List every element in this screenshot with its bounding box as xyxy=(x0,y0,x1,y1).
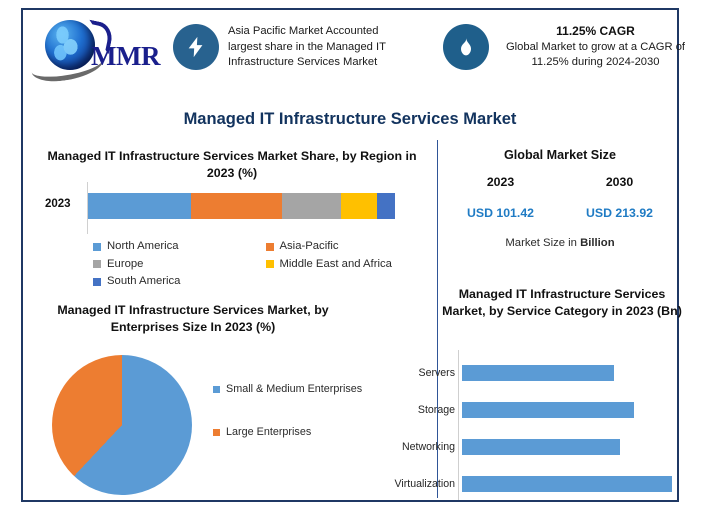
service-bar-row: Networking xyxy=(358,428,688,465)
page-title: Managed IT Infrastructure Services Marke… xyxy=(23,110,677,129)
enterprise-chart-title-block: Managed IT Infrastructure Services Marke… xyxy=(23,302,363,336)
pie-legend-swatch-icon xyxy=(213,429,220,436)
service-chart-title-block: Managed IT Infrastructure Services Marke… xyxy=(438,286,686,320)
lightning-bolt-icon xyxy=(173,24,219,70)
market-size-footnote: Market Size in Billion xyxy=(441,237,679,249)
legend-swatch-icon xyxy=(93,243,101,251)
legend-label: Middle East and Africa xyxy=(280,256,392,274)
highlight-asia-pacific: Asia Pacific Market Accounted largest sh… xyxy=(173,24,413,71)
pie-legend-label: Large Enterprises xyxy=(226,425,311,440)
service-category-bar-chart: ServersStorageNetworkingVirtualization xyxy=(358,350,688,500)
region-chart-title-block: Managed IT Infrastructure Services Marke… xyxy=(27,148,437,182)
region-segment-south-america xyxy=(377,193,395,219)
legend-label: North America xyxy=(107,238,179,256)
service-bar-row: Virtualization xyxy=(358,465,688,502)
service-bar-row: Storage xyxy=(358,391,688,428)
service-bar-label: Virtualization xyxy=(358,478,459,490)
region-segment-north-america xyxy=(88,193,191,219)
pie-legend-item: Large Enterprises xyxy=(213,425,363,440)
enterprise-pie-chart xyxy=(52,355,192,495)
region-segment-middle-east-and-africa xyxy=(341,193,376,219)
service-chart-title: Managed IT Infrastructure Services Marke… xyxy=(438,286,686,320)
legend-item: Middle East and Africa xyxy=(266,256,439,274)
service-bar-servers xyxy=(462,365,614,381)
header: MMR Asia Pacific Market Accounted larges… xyxy=(23,10,677,98)
region-segment-asia-pacific xyxy=(191,193,282,219)
service-bar-storage xyxy=(462,402,634,418)
service-bar-virtualization xyxy=(462,476,672,492)
region-stacked-bar-chart: 2023 xyxy=(23,188,435,230)
market-size-footnote-unit: Billion xyxy=(580,237,615,249)
legend-item: Asia-Pacific xyxy=(266,238,439,256)
global-market-size-panel: Global Market Size 2023 USD 101.42 2030 … xyxy=(441,148,679,249)
pie-legend-swatch-icon xyxy=(213,386,220,393)
legend-item: South America xyxy=(93,273,266,291)
region-category-label: 2023 xyxy=(45,198,71,210)
legend-swatch-icon xyxy=(93,278,101,286)
highlight-cagr: 11.25% CAGR Global Market to grow at a C… xyxy=(443,24,693,71)
global-market-size-row: 2023 USD 101.42 2030 USD 213.92 xyxy=(441,175,679,220)
market-size-footnote-prefix: Market Size in xyxy=(505,237,580,249)
flame-icon xyxy=(443,24,489,70)
service-bar-row: Servers xyxy=(358,354,688,391)
legend-swatch-icon xyxy=(266,243,274,251)
cagr-headline: 11.25% CAGR xyxy=(498,24,693,40)
highlight-asia-pacific-text: Asia Pacific Market Accounted largest sh… xyxy=(228,24,413,71)
global-market-size-title: Global Market Size xyxy=(441,148,679,162)
cagr-description: Global Market to grow at a CAGR of 11.25… xyxy=(506,41,685,69)
market-size-year-2023: 2023 xyxy=(441,175,560,189)
highlight-cagr-text: 11.25% CAGR Global Market to grow at a C… xyxy=(498,24,693,71)
logo-text: MMR xyxy=(91,41,160,72)
market-size-year-2030: 2030 xyxy=(560,175,679,189)
service-bar-networking xyxy=(462,439,620,455)
enterprise-legend: Small & Medium EnterprisesLarge Enterpri… xyxy=(213,382,363,468)
mmr-logo: MMR xyxy=(29,16,161,78)
region-segment-europe xyxy=(282,193,341,219)
region-stack xyxy=(88,193,395,219)
legend-swatch-icon xyxy=(93,260,101,268)
legend-label: South America xyxy=(107,273,180,291)
service-bar-label: Servers xyxy=(358,367,459,379)
legend-label: Asia-Pacific xyxy=(280,238,339,256)
service-bar-label: Networking xyxy=(358,441,459,453)
legend-label: Europe xyxy=(107,256,143,274)
pie-legend-item: Small & Medium Enterprises xyxy=(213,382,363,397)
service-bar-label: Storage xyxy=(358,404,459,416)
legend-item: Europe xyxy=(93,256,266,274)
enterprise-chart-title: Managed IT Infrastructure Services Marke… xyxy=(23,302,363,336)
market-size-col-2023: 2023 USD 101.42 xyxy=(441,175,560,220)
legend-item: North America xyxy=(93,238,266,256)
legend-swatch-icon xyxy=(266,260,274,268)
market-size-value-2023: USD 101.42 xyxy=(441,206,560,220)
pie-legend-label: Small & Medium Enterprises xyxy=(226,382,362,397)
region-legend: North AmericaAsia-PacificEuropeMiddle Ea… xyxy=(93,238,438,291)
market-size-col-2030: 2030 USD 213.92 xyxy=(560,175,679,220)
region-chart-title: Managed IT Infrastructure Services Marke… xyxy=(27,148,437,182)
market-size-value-2030: USD 213.92 xyxy=(560,206,679,220)
infographic-frame: MMR Asia Pacific Market Accounted larges… xyxy=(21,8,679,502)
